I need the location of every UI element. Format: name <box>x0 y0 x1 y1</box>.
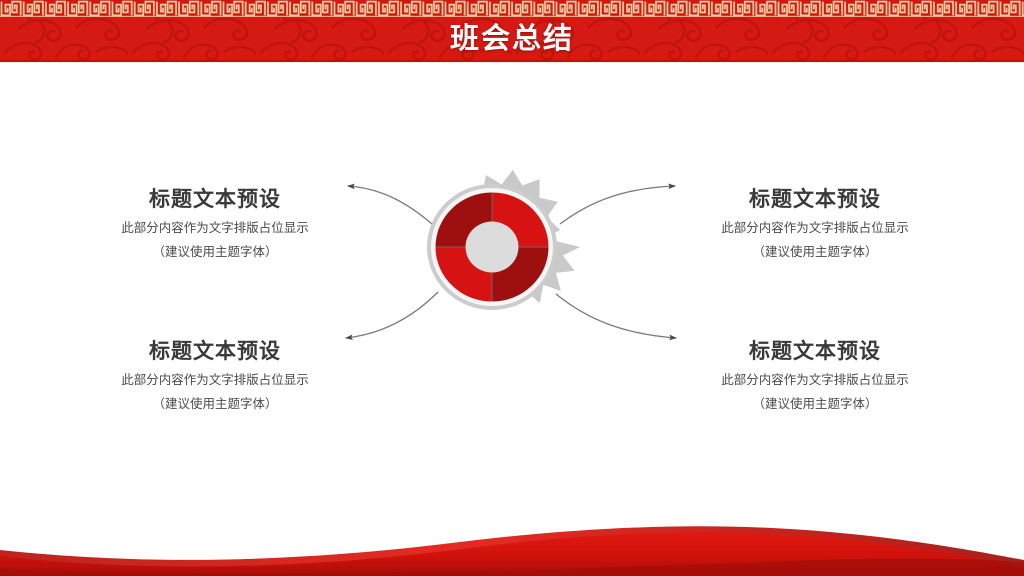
text-block-body: 此部分内容作为文字排版占位显示 <box>85 370 345 389</box>
text-block-top-right[interactable]: 标题文本预设 此部分内容作为文字排版占位显示 （建议使用主题字体） <box>685 186 945 261</box>
header-shadow <box>0 60 1024 63</box>
text-block-body: 此部分内容作为文字排版占位显示 <box>685 218 945 237</box>
text-block-body: 此部分内容作为文字排版占位显示 <box>685 370 945 389</box>
text-block-bottom-left[interactable]: 标题文本预设 此部分内容作为文字排版占位显示 （建议使用主题字体） <box>85 338 345 413</box>
text-block-note: （建议使用主题字体） <box>685 242 945 261</box>
text-block-title: 标题文本预设 <box>685 186 945 212</box>
text-block-bottom-right[interactable]: 标题文本预设 此部分内容作为文字排版占位显示 （建议使用主题字体） <box>685 338 945 413</box>
text-block-title: 标题文本预设 <box>685 338 945 364</box>
header-bar: 班会总结 <box>0 0 1024 62</box>
text-block-note: （建议使用主题字体） <box>685 394 945 413</box>
emblem-hub <box>466 222 519 273</box>
slide-canvas: 班会总结 <box>0 0 1024 576</box>
text-block-top-left[interactable]: 标题文本预设 此部分内容作为文字排版占位显示 （建议使用主题字体） <box>85 186 345 261</box>
text-block-body: 此部分内容作为文字排版占位显示 <box>85 218 345 237</box>
text-block-note: （建议使用主题字体） <box>85 242 345 261</box>
starburst-gear-emblem[interactable] <box>402 157 582 337</box>
text-block-note: （建议使用主题字体） <box>85 394 345 413</box>
red-wave-decoration <box>0 516 1024 576</box>
text-block-title: 标题文本预设 <box>85 338 345 364</box>
page-title: 班会总结 <box>0 0 1024 62</box>
text-block-title: 标题文本预设 <box>85 186 345 212</box>
